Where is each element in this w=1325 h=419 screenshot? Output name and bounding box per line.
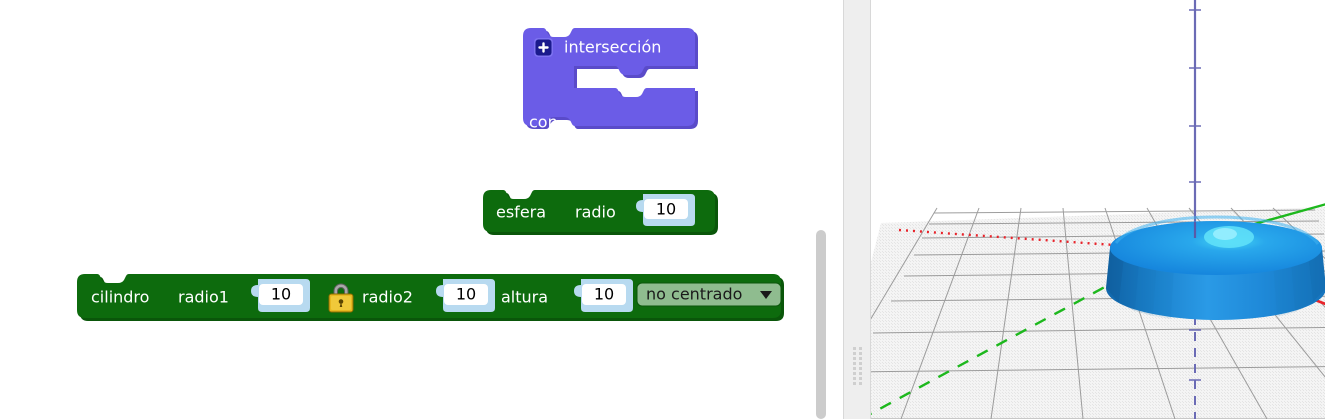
field-label-radio1: radio1	[178, 288, 229, 307]
number-value-radio: 10	[656, 200, 676, 219]
scene-contents	[871, 0, 1325, 419]
block-esfera[interactable]: esfera radio 10	[479, 186, 719, 246]
block-interseccion[interactable]: intersección con	[515, 24, 715, 164]
field-label-altura: altura	[501, 288, 548, 307]
number-input-radio[interactable]: 10	[636, 194, 695, 226]
3d-preview-viewport[interactable]	[871, 0, 1325, 419]
centering-dropdown-value: no centrado	[646, 285, 742, 304]
workspace-scrollbar-thumb[interactable]	[816, 230, 826, 419]
block-cilindro-label: cilindro	[91, 288, 149, 307]
field-label-radio2: radio2	[362, 288, 413, 307]
field-label-radio: radio	[575, 203, 616, 222]
number-input-radio2[interactable]: 10	[436, 279, 495, 312]
handle-dot	[853, 372, 856, 375]
splitter-drag-handle[interactable]	[853, 347, 862, 387]
cylinder-mesh[interactable]	[1106, 217, 1325, 320]
handle-dot	[853, 362, 856, 365]
handle-dot	[853, 357, 856, 360]
block-interseccion-second-label: con	[529, 113, 558, 132]
number-value-altura: 10	[594, 285, 614, 304]
block-esfera-label: esfera	[496, 203, 546, 222]
3d-scene[interactable]	[871, 0, 1325, 419]
handle-dot	[853, 352, 856, 355]
blockly-workspace[interactable]: intersección con esfera radio 10 cilindr…	[0, 0, 828, 419]
block-cilindro[interactable]: cilindro radio1 10 radio2 10 altura 10	[73, 270, 793, 332]
handle-dot	[853, 382, 856, 385]
handle-dot	[859, 372, 862, 375]
block-interseccion-label: intersección	[564, 38, 661, 57]
handle-dot	[859, 382, 862, 385]
panel-splitter[interactable]	[843, 0, 871, 419]
socket-b[interactable]	[575, 124, 633, 160]
handle-dot	[859, 362, 862, 365]
handle-dot	[853, 347, 856, 350]
handle-dot	[859, 367, 862, 370]
number-input-radio1[interactable]: 10	[251, 279, 310, 312]
number-value-radio2: 10	[456, 285, 476, 304]
handle-dot	[859, 377, 862, 380]
handle-dot	[859, 352, 862, 355]
mutator-plus-button[interactable]	[534, 38, 553, 57]
handle-dot	[853, 367, 856, 370]
centering-dropdown[interactable]: no centrado	[637, 283, 781, 306]
handle-dot	[859, 347, 862, 350]
number-input-altura[interactable]: 10	[574, 279, 633, 312]
workspace-scrollbar-track[interactable]	[813, 0, 828, 419]
handle-dot	[853, 377, 856, 380]
number-value-radio1: 10	[271, 285, 291, 304]
handle-dot	[859, 357, 862, 360]
